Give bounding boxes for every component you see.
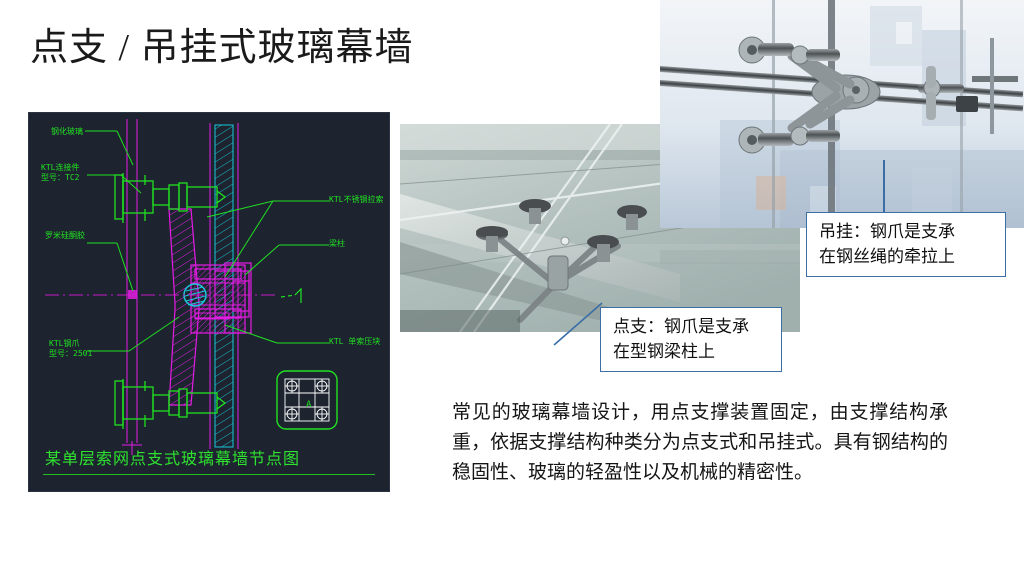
cad-label-ktl-cable-clamp: KTL 单索压块 bbox=[329, 337, 380, 347]
body-paragraph: 常见的玻璃幕墙设计，用点支撑装置固定，由支撑结构承重，依据支撑结构种类分为点支式… bbox=[452, 398, 948, 488]
cad-label-ktl-cable: KTL不锈钢拉索 bbox=[329, 195, 383, 205]
callout-hanging-support: 吊挂：钢爪是支承 在钢丝绳的牵拉上 bbox=[806, 212, 1006, 277]
photo-hanging-support-image bbox=[660, 0, 1024, 228]
cad-label-structural-sealant: 罗米硅酮胶 bbox=[45, 231, 85, 241]
page-title: 点支 / 吊挂式玻璃幕墙 bbox=[30, 26, 414, 72]
cad-label-ktl-claw: KTL钢爪 型号：2501 bbox=[49, 339, 92, 359]
callout-point-support: 点支：钢爪是支承 在型钢梁柱上 bbox=[600, 307, 782, 372]
photo-hanging-support bbox=[660, 0, 1024, 228]
cad-drawing-canvas bbox=[29, 113, 389, 491]
cad-label-ktl-connector: KTL连接件 型号：TC2 bbox=[41, 163, 79, 183]
slide-root: 点支 / 吊挂式玻璃幕墙 bbox=[0, 0, 1024, 576]
cad-caption-rule bbox=[43, 474, 375, 475]
callout-hanging-leader bbox=[883, 160, 885, 214]
callout-point-leader bbox=[552, 293, 604, 347]
cad-section-marker-a: A bbox=[306, 400, 311, 410]
cad-label-beam-column: 梁柱 bbox=[329, 239, 345, 249]
cad-drawing-figure: 钢化玻璃 KTL连接件 型号：TC2 罗米硅酮胶 KTL钢爪 型号：2501 K… bbox=[28, 112, 390, 492]
cad-figure-caption: 某单层索网点支式玻璃幕墙节点图 bbox=[45, 445, 300, 469]
cad-label-tempered-glass: 钢化玻璃 bbox=[51, 127, 83, 137]
